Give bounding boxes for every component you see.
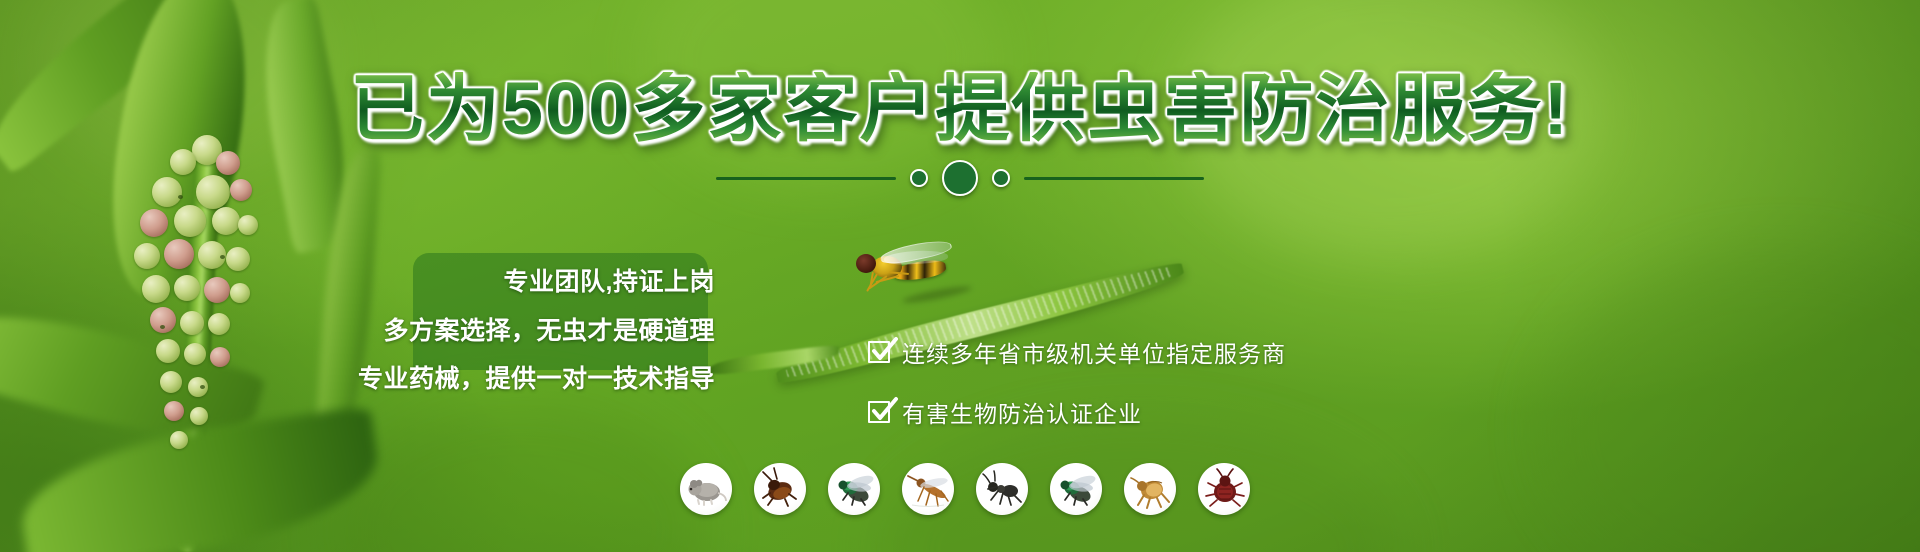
credential-item: 有害生物防治认证企业: [868, 395, 1286, 429]
decorative-divider: [0, 160, 1920, 196]
flower-bud: [238, 215, 258, 235]
flower-bud: [142, 275, 170, 303]
pest-icon-circle[interactable]: 臭虫: [1198, 463, 1250, 515]
flower-bud: [190, 407, 208, 425]
slogan-line-3: 专业药械，提供一对一技术指导: [358, 347, 730, 395]
pest-icon-row: 鼠蟑螂苍蝇蚊子蚂蚁苍蝇跳蚤臭虫: [680, 463, 1250, 515]
fly-icon: [828, 463, 880, 515]
credential-item: 连续多年省市级机关单位指定服务商: [868, 335, 1286, 369]
aphid-dot: [200, 385, 205, 389]
flower-bud: [210, 347, 230, 367]
flower-bud: [160, 371, 182, 393]
promo-banner: 已为500多家客户提供虫害防治服务! 专业团队,持证上岗 多方案选择，无虫才是硬…: [0, 0, 1920, 552]
slogan-line-1: 专业团队,持证上岗: [504, 252, 730, 298]
flower-bud: [184, 343, 206, 365]
hoverfly-icon: [850, 240, 960, 306]
pest-icon-circle[interactable]: 苍蝇: [1050, 463, 1102, 515]
bedbug-icon: [1198, 463, 1250, 515]
flower-bud: [230, 283, 250, 303]
mosquito-icon: [902, 463, 954, 515]
pest-icon-circle[interactable]: 跳蚤: [1124, 463, 1176, 515]
checkbox-checked-icon: [868, 341, 890, 363]
banner-headline: 已为500多家客户提供虫害防治服务!: [0, 72, 1920, 146]
divider-line-right: [1024, 177, 1204, 180]
flower-bud: [188, 377, 208, 397]
aphid-dot: [160, 325, 165, 329]
credential-label: 连续多年省市级机关单位指定服务商: [902, 335, 1286, 369]
pest-icon-circle[interactable]: 蚊子: [902, 463, 954, 515]
flower-bud: [140, 209, 168, 237]
aphid-dot: [220, 255, 225, 259]
flower-bud: [164, 239, 194, 269]
flower-bud: [174, 275, 200, 301]
flower-bud: [150, 307, 176, 333]
flea-icon: [1124, 463, 1176, 515]
fly-icon: [1050, 463, 1102, 515]
flower-bud: [226, 247, 250, 271]
flower-bud: [164, 401, 184, 421]
divider-dot-large: [942, 160, 978, 196]
divider-dot-small-right: [992, 169, 1010, 187]
ant-icon: [976, 463, 1028, 515]
pest-icon-circle[interactable]: 苍蝇: [828, 463, 880, 515]
mouse-icon: [680, 463, 732, 515]
checkbox-checked-icon: [868, 401, 890, 423]
flower-bud: [208, 313, 230, 335]
credential-list: 连续多年省市级机关单位指定服务商 有害生物防治认证企业: [868, 335, 1286, 429]
divider-line-left: [716, 177, 896, 180]
divider-dot-small-left: [910, 169, 928, 187]
flower-bud: [212, 207, 240, 235]
flower-bud: [204, 277, 230, 303]
flower-bud: [174, 205, 206, 237]
flower-bud: [156, 339, 180, 363]
flower-bud: [134, 243, 160, 269]
flower-bud: [170, 431, 188, 449]
cockroach-icon: [754, 463, 806, 515]
pest-icon-circle[interactable]: 蟑螂: [754, 463, 806, 515]
credential-label: 有害生物防治认证企业: [902, 395, 1142, 429]
pest-icon-circle[interactable]: 鼠: [680, 463, 732, 515]
slogan-line-2: 多方案选择，无虫才是硬道理: [383, 298, 730, 347]
flower-bud: [180, 311, 204, 335]
slogan-list: 专业团队,持证上岗 多方案选择，无虫才是硬道理 专业药械，提供一对一技术指导: [330, 252, 730, 395]
pest-icon-circle[interactable]: 蚂蚁: [976, 463, 1028, 515]
